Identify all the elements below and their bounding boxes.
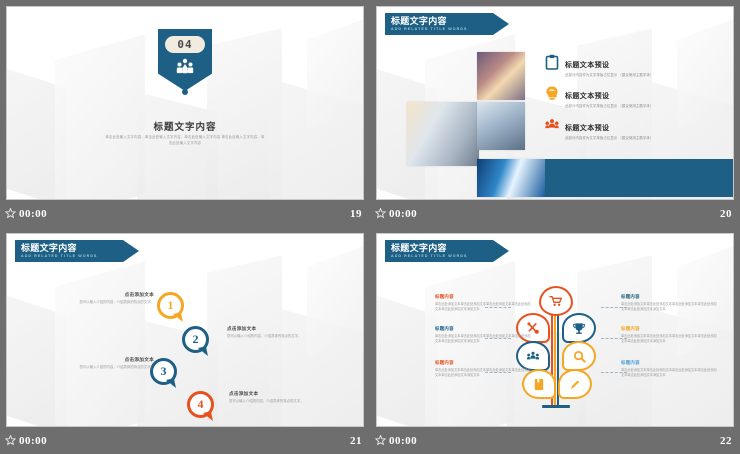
- label-body: 单击此处添加文本单击此处添加文本单击此处添加文本单击此处添加文本单击此处添加文本…: [435, 368, 531, 377]
- tree-label-right-2: 标题内容 单击此处添加文本单击此处添加文本单击此处添加文本单击此处添加文本单击此…: [621, 326, 717, 343]
- page-number: 19: [350, 208, 362, 220]
- clipboard-icon: [545, 54, 559, 70]
- star-clock-icon: [375, 435, 386, 446]
- slide-20[interactable]: 标题文字内容 ADD RELATED TITLE WORDS 标题文本预: [376, 6, 734, 200]
- timer-value: 00:00: [19, 435, 47, 447]
- bubble-text-1: 点击添加文本 您可以输入介绍的内容，介绍具体的特点的文字。: [59, 292, 154, 305]
- accent-bar: [545, 159, 734, 197]
- teamwork-icon: [545, 117, 559, 133]
- slide-cell-22[interactable]: 标题文字内容 ADD RELATED TITLE WORDS: [370, 227, 740, 454]
- people-icon: [526, 351, 540, 362]
- ribbon-header: 标题文字内容 ADD RELATED TITLE WORDS: [15, 240, 140, 262]
- bubble-title: 点击添加文本: [59, 357, 154, 363]
- page-number: 21: [350, 435, 362, 447]
- timer-value: 00:00: [389, 208, 417, 220]
- slide-footer-19: 00:00 19: [0, 200, 370, 227]
- brain-head-icon: [545, 85, 559, 101]
- bubble-body: 您可以输入介绍的内容，介绍具体的特点的文字。: [59, 300, 154, 305]
- slide-cell-19[interactable]: 04 标题文字内容: [0, 0, 370, 227]
- feature-body: 此部分内容作为文字排版占位显示 （建议使用主题字体）: [565, 136, 653, 141]
- tools-icon: [527, 322, 540, 335]
- bubble-title: 点击添加文本: [59, 292, 154, 298]
- bubble-body: 您可以输入介绍的内容，介绍具体的特点的文字。: [227, 334, 322, 339]
- ribbon-arrow: [493, 240, 509, 262]
- feature-item-3: 标题文本预设 此部分内容作为文字排版占位显示 （建议使用主题字体）: [545, 117, 653, 141]
- bubble-text-2: 点击添加文本 您可以输入介绍的内容，介绍具体的特点的文字。: [227, 326, 322, 339]
- pencil-icon: [569, 378, 581, 391]
- feature-title: 标题文本预设: [565, 125, 609, 132]
- timer-22[interactable]: 00:00: [375, 435, 417, 447]
- star-clock-icon: [5, 208, 16, 219]
- bubble-title: 点击添加文本: [227, 326, 322, 332]
- star-clock-icon: [5, 435, 16, 446]
- photo-skyscraper-sunset: [477, 52, 525, 100]
- bubble-text-4: 点击添加文本 您可以输入介绍的内容，介绍具体的特点的文字。: [229, 391, 324, 404]
- ribbon-header: 标题文字内容 ADD RELATED TITLE WORDS: [385, 240, 510, 262]
- ribbon-arrow: [123, 240, 139, 262]
- ribbon-subtitle: ADD RELATED TITLE WORDS: [391, 26, 493, 32]
- ribbon-title: 标题文字内容: [391, 16, 493, 26]
- badge-shield: 04: [158, 29, 212, 91]
- search-icon: [573, 350, 586, 363]
- ribbon-title: 标题文字内容: [21, 243, 123, 253]
- timer-value: 00:00: [19, 208, 47, 220]
- label-title: 标题内容: [621, 326, 717, 332]
- bubble-title: 点击添加文本: [229, 391, 324, 397]
- label-title: 标题内容: [621, 294, 717, 300]
- label-body: 单击此处添加文本单击此处添加文本单击此处添加文本单击此处添加文本单击此处添加文本…: [621, 302, 717, 311]
- feature-item-1: 标题文本预设 此部分内容作为文字排版占位显示 （建议使用主题字体）: [545, 54, 653, 78]
- photo-buildings-lookup: [407, 102, 479, 166]
- tree-label-left-3: 标题内容 单击此处添加文本单击此处添加文本单击此处添加文本单击此处添加文本单击此…: [435, 360, 531, 377]
- label-title: 标题内容: [435, 326, 531, 332]
- trophy-icon: [573, 322, 585, 335]
- bubble-text-3: 点击添加文本 您可以输入介绍的内容，介绍具体的特点的文字。: [59, 357, 154, 370]
- feature-item-2: 标题文本预设 此部分内容作为文字排版占位显示 （建议使用主题字体）: [545, 85, 653, 109]
- slide-cell-20[interactable]: 标题文字内容 ADD RELATED TITLE WORDS 标题文本预: [370, 0, 740, 227]
- tree-label-right-1: 标题内容 单击此处添加文本单击此处添加文本单击此处添加文本单击此处添加文本单击此…: [621, 294, 717, 311]
- feature-body: 此部分内容作为文字排版占位显示 （建议使用主题字体）: [565, 73, 653, 78]
- number-bubble-4[interactable]: 4: [187, 391, 214, 418]
- page-number: 22: [720, 435, 732, 447]
- leaf-pencil[interactable]: [558, 369, 592, 399]
- bubble-body: 您可以输入介绍的内容，介绍具体的特点的文字。: [229, 399, 324, 404]
- timer-20[interactable]: 00:00: [375, 208, 417, 220]
- ribbon-subtitle: ADD RELATED TITLE WORDS: [21, 253, 123, 259]
- photo-blue-crystal: [477, 159, 545, 197]
- timer-19[interactable]: 00:00: [5, 208, 47, 220]
- page-number: 20: [720, 208, 732, 220]
- label-body: 单击此处添加文本单击此处添加文本单击此处添加文本单击此处添加文本单击此处添加文本…: [435, 302, 531, 311]
- photo-glass-towers: [477, 102, 525, 150]
- ribbon-header: 标题文字内容 ADD RELATED TITLE WORDS: [385, 13, 510, 35]
- label-title: 标题内容: [435, 294, 531, 300]
- ribbon-title: 标题文字内容: [391, 243, 493, 253]
- section-badge: 04: [158, 29, 212, 95]
- ribbon-subtitle: ADD RELATED TITLE WORDS: [391, 253, 493, 259]
- label-body: 单击此处添加文本单击此处添加文本单击此处添加文本单击此处添加文本单击此处添加文本…: [621, 334, 717, 343]
- badge-number: 04: [165, 36, 205, 53]
- label-title: 标题内容: [435, 360, 531, 366]
- leaf-trophy[interactable]: [562, 313, 596, 343]
- timer-value: 00:00: [389, 435, 417, 447]
- timer-21[interactable]: 00:00: [5, 435, 47, 447]
- tree-label-left-2: 标题内容 单击此处添加文本单击此处添加文本单击此处添加文本单击此处添加文本单击此…: [435, 326, 531, 343]
- leaf-shopping-cart[interactable]: [539, 286, 573, 316]
- slide-19[interactable]: 04 标题文字内容: [6, 6, 364, 200]
- people-group-icon: [175, 58, 195, 79]
- slide-cell-21[interactable]: 标题文字内容 ADD RELATED TITLE WORDS 1 2 3 4 点…: [0, 227, 370, 454]
- bubble-body: 您可以输入介绍的内容，介绍具体的特点的文字。: [59, 365, 154, 370]
- tree-label-left-1: 标题内容 单击此处添加文本单击此处添加文本单击此处添加文本单击此处添加文本单击此…: [435, 294, 531, 311]
- slide-footer-21: 00:00 21: [0, 427, 370, 454]
- slide-22[interactable]: 标题文字内容 ADD RELATED TITLE WORDS: [376, 233, 734, 427]
- page-title: 标题文字内容: [7, 119, 363, 133]
- book-icon: [533, 378, 545, 391]
- slide-footer-20: 00:00 20: [370, 200, 740, 227]
- label-title: 标题内容: [621, 360, 717, 366]
- feature-body: 此部分内容作为文字排版占位显示 （建议使用主题字体）: [565, 104, 653, 109]
- slide-footer-22: 00:00 22: [370, 427, 740, 454]
- page-subtitle-text: 单击此处输入文字内容，单击此处输入文字内容，单击此处输入文字内容 单击此处输入文…: [105, 135, 265, 146]
- ribbon-arrow: [493, 13, 509, 35]
- feature-title: 标题文本预设: [565, 93, 609, 100]
- feature-title: 标题文本预设: [565, 62, 609, 69]
- tree-label-right-3: 标题内容 单击此处添加文本单击此处添加文本单击此处添加文本单击此处添加文本单击此…: [621, 360, 717, 377]
- slide-21[interactable]: 标题文字内容 ADD RELATED TITLE WORDS 1 2 3 4 点…: [6, 233, 364, 427]
- label-body: 单击此处添加文本单击此处添加文本单击此处添加文本单击此处添加文本单击此处添加文本…: [621, 368, 717, 377]
- shopping-cart-icon: [549, 295, 563, 307]
- star-clock-icon: [375, 208, 386, 219]
- leaf-search[interactable]: [562, 341, 596, 371]
- number-bubble-1[interactable]: 1: [157, 292, 184, 319]
- label-body: 单击此处添加文本单击此处添加文本单击此处添加文本单击此处添加文本单击此处添加文本…: [435, 334, 531, 343]
- number-bubble-3[interactable]: 3: [150, 358, 177, 385]
- number-bubble-2[interactable]: 2: [182, 326, 209, 353]
- slide-thumbnail-grid: 04 标题文字内容: [0, 0, 740, 454]
